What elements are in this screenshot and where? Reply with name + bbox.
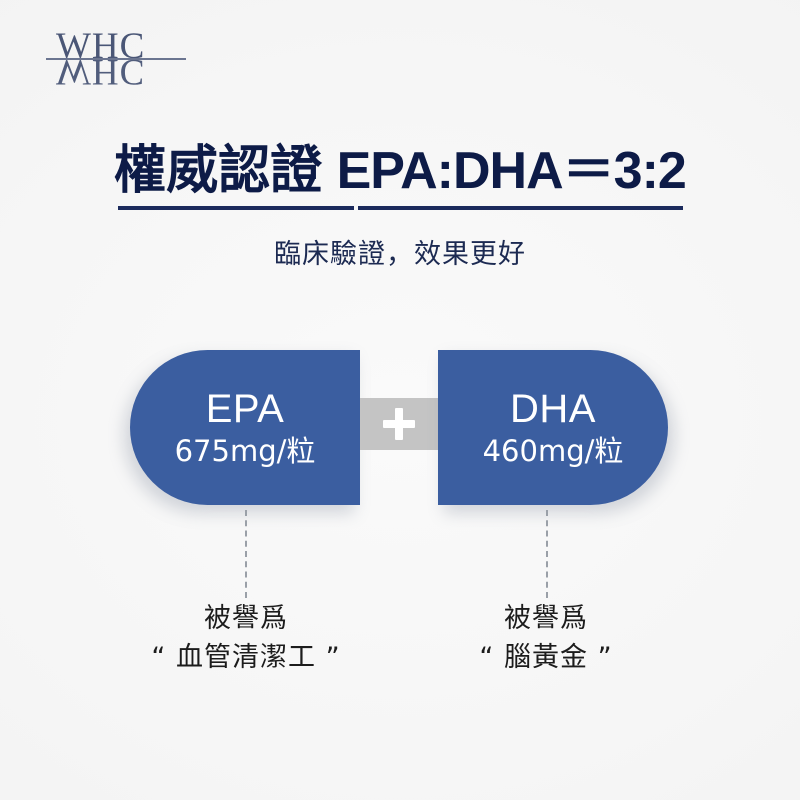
headline-underline-right [358, 206, 683, 210]
caption-epa-line1: 被譽爲 [96, 600, 396, 638]
leader-line-epa [245, 510, 247, 598]
capsule-dha-name: DHA [510, 387, 596, 431]
plus-connector-band [360, 398, 438, 450]
brand-logo-rule [46, 58, 186, 60]
subtitle: 臨床驗證，效果更好 [0, 232, 800, 271]
capsule-epa: EPA 675mg/粒 [130, 350, 360, 505]
capsule-diagram: EPA 675mg/粒 DHA 460mg/粒 [0, 340, 800, 525]
caption-epa: 被譽爲 “ 血管清潔工 ” [96, 600, 396, 678]
caption-dha: 被譽爲 “ 腦黃金 ” [396, 600, 696, 678]
headline: 權威認證 EPA:DHA＝3:2 [0, 140, 800, 202]
poster-canvas: WHC WHC 權威認證 EPA:DHA＝3:2 臨床驗證，效果更好 EPA 6… [0, 0, 800, 800]
headline-cjk: 權威認證 [114, 141, 322, 201]
capsule-epa-dose: 675mg/粒 [175, 433, 316, 469]
headline-latin: EPA:DHA＝3:2 [337, 142, 686, 200]
headline-underline-left [118, 206, 354, 210]
brand-logo: WHC WHC [56, 28, 176, 90]
brand-logo-mirror-text: WHC [56, 59, 176, 90]
plus-icon [383, 408, 415, 440]
brand-logo-text: WHC [56, 28, 176, 59]
capsule-dha-dose: 460mg/粒 [483, 433, 624, 469]
caption-dha-line1: 被譽爲 [396, 600, 696, 638]
capsule-epa-name: EPA [206, 387, 285, 431]
caption-epa-line2: “ 血管清潔工 ” [96, 638, 396, 678]
capsule-dha: DHA 460mg/粒 [438, 350, 668, 505]
leader-line-dha [546, 510, 548, 598]
brand-logo-mirror: WHC [56, 59, 176, 90]
caption-dha-line2: “ 腦黃金 ” [396, 638, 696, 678]
